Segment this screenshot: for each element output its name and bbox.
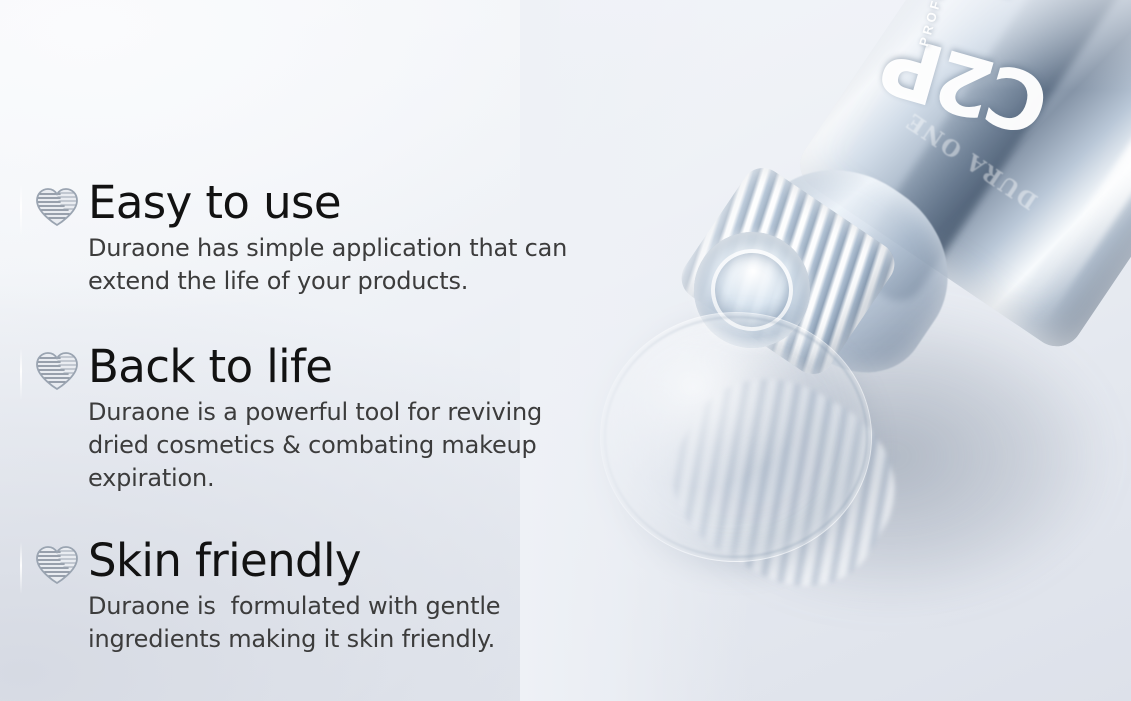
feature-title: Back to life: [88, 342, 618, 392]
gel-refraction: [644, 346, 926, 616]
bottle-threaded-neck: [673, 160, 903, 383]
bottle-right-rim: [844, 0, 1131, 311]
product-name-duraone: DURA ONE: [791, 0, 1021, 6]
feature-text-block: Easy to use Duraone has simple applicati…: [88, 178, 618, 298]
bottle-cast-shadow: [600, 240, 1131, 701]
sketched-heart-icon: [34, 350, 80, 392]
bottle-mouth-opening: [671, 209, 832, 370]
sketched-heart-icon: [34, 186, 80, 228]
marketing-banner: C2P PROFESSIONAL DURA ONE MIXING SOLUTIO…: [0, 0, 1131, 701]
brand-tagline-professional: PROFESSIONAL: [916, 0, 970, 48]
feature-text-block: Skin friendly Duraone is formulated with…: [88, 536, 618, 656]
feature-description: Duraone has simple application that can …: [88, 232, 618, 298]
feature-description: Duraone is formulated with gentle ingred…: [88, 590, 618, 656]
brand-logo-c2p: C2P: [874, 15, 1059, 152]
bottle-moulding-text: DURA ONE: [901, 107, 1043, 214]
feature-list: Easy to use Duraone has simple applicati…: [0, 0, 640, 701]
accent-rule: [20, 348, 22, 400]
sketched-heart-icon: [34, 544, 80, 586]
accent-rule: [20, 542, 22, 594]
accent-rule: [20, 184, 22, 236]
feature-text-block: Back to life Duraone is a powerful tool …: [88, 342, 618, 495]
feature-title: Skin friendly: [88, 536, 618, 586]
feature-description: Duraone is a powerful tool for reviving …: [88, 396, 618, 495]
photo-top-fade: [560, 0, 1131, 90]
bottle-shoulder: [711, 134, 982, 398]
gel-droplet: [600, 312, 872, 562]
bottle-body: [790, 0, 1131, 356]
feature-title: Easy to use: [88, 178, 618, 228]
gel-droplet-rim: [604, 316, 868, 558]
